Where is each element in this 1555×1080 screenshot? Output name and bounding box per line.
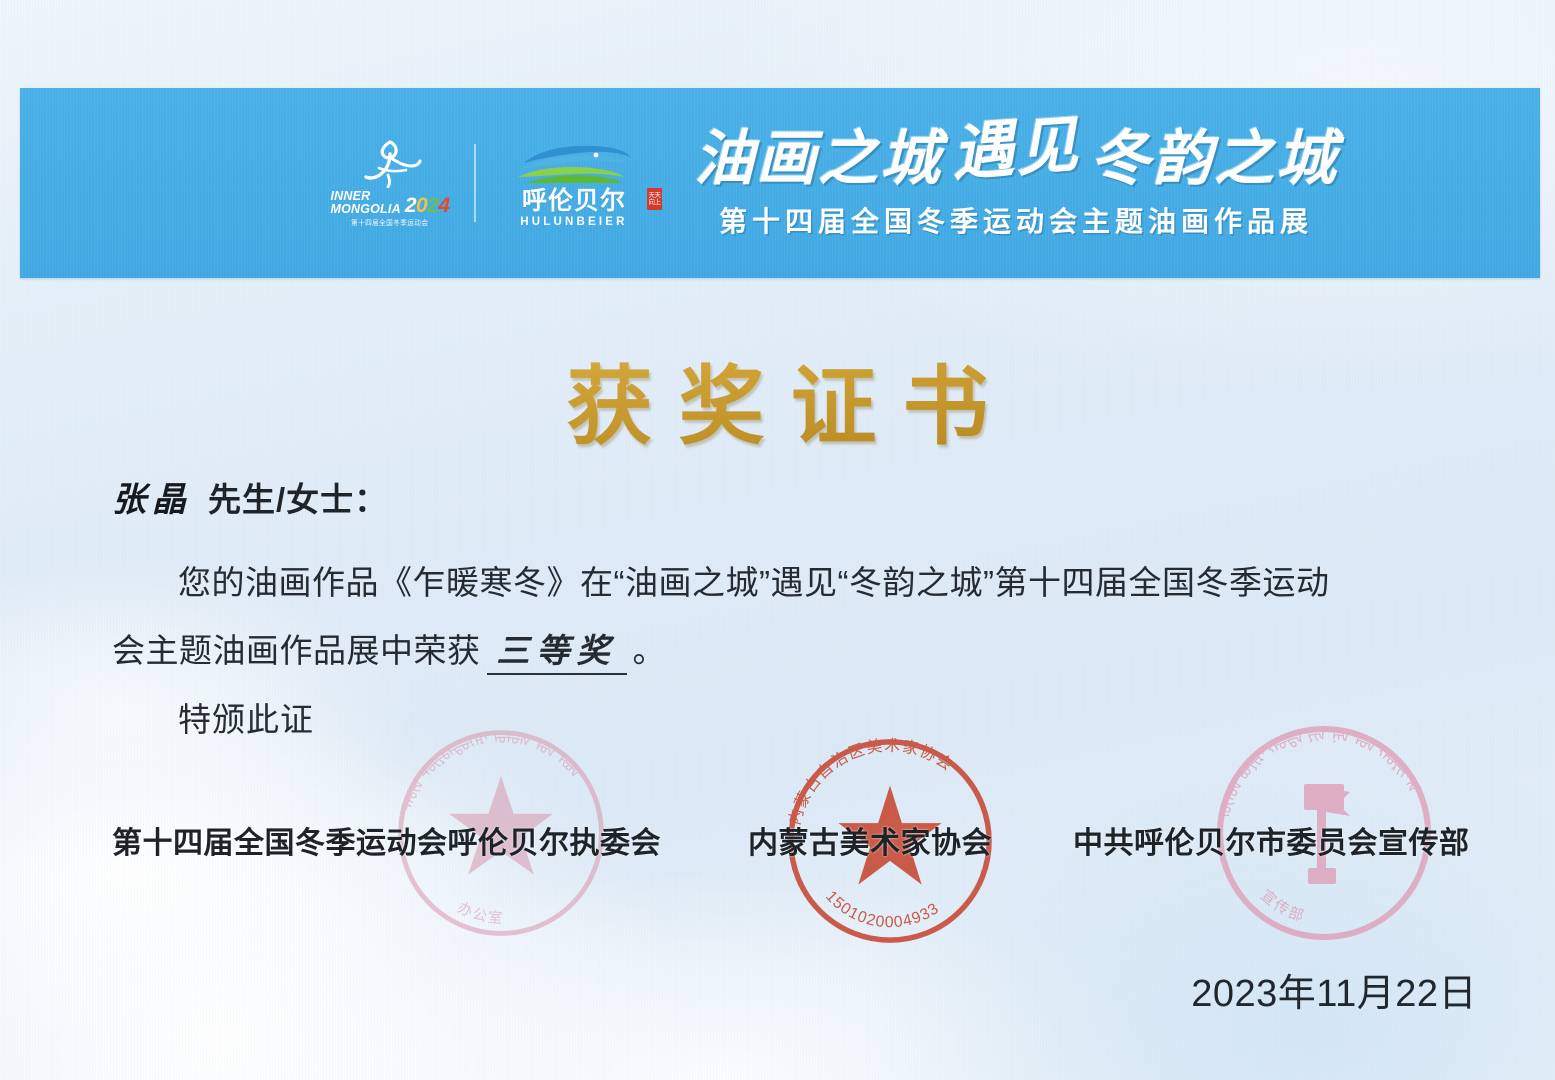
mongolian-script-mark-icon xyxy=(357,138,423,188)
background-haze-bottom-left xyxy=(0,710,500,1040)
banner-logo-group: INNER MONGOLIA 2024 第十四届全国冬季运动会 xyxy=(338,138,638,228)
issuer-name-0: 第十四届全国冬季运动会呼伦贝尔执委会 xyxy=(112,818,661,862)
banner-title-block: 油画之城 遇见 冬韵之城 第十四届全国冬季运动会主题油画作品展 xyxy=(694,126,1338,240)
certificate-body: 张晶 先生/女士： 您的油画作品《乍暖寒冬》在“油画之城”遇见“冬韵之城”第十四… xyxy=(112,478,1472,754)
inner-mongolia-sublabel: 第十四届全国冬季运动会 xyxy=(351,218,428,228)
certificate-page: INNER MONGOLIA 2024 第十四届全国冬季运动会 xyxy=(0,0,1555,1080)
inner-mongolia-line2: MONGOLIA xyxy=(330,203,400,216)
inner-mongolia-logo: INNER MONGOLIA 2024 第十四届全国冬季运动会 xyxy=(338,138,442,228)
background-haze-bottom-right xyxy=(855,740,1555,1080)
salutation-suffix: 先生/女士： xyxy=(208,478,388,522)
issuer-name-1: 内蒙古美术家协会 xyxy=(748,818,992,862)
event-banner: INNER MONGOLIA 2024 第十四届全国冬季运动会 xyxy=(20,88,1540,278)
recipient-name: 张晶 xyxy=(112,479,192,523)
award-level: 三等奖 xyxy=(487,634,627,675)
banner-subtitle: 第十四届全国冬季运动会主题油画作品展 xyxy=(719,200,1313,240)
closing-line: 特颁此证 xyxy=(112,686,1472,754)
banner-headline-middle: 遇见 xyxy=(950,113,1082,188)
issuer-row: 第十四届全国冬季运动会呼伦贝尔执委会 内蒙古美术家协会 中共呼伦贝尔市委员会宣传… xyxy=(0,818,1555,862)
banner-headline-right: 冬韵之城 xyxy=(1090,126,1338,192)
hulunbeier-english: HULUNBEIER xyxy=(520,216,627,228)
svg-text:办公室: 办公室 xyxy=(455,899,505,927)
page-title: 获奖证书 xyxy=(0,336,1555,461)
inner-mongolia-line1: INNER xyxy=(330,190,400,203)
salutation-line: 张晶 先生/女士： xyxy=(112,478,1472,523)
inner-mongolia-year: 2024 xyxy=(405,196,450,215)
body-paragraph-line-2-prefix: 会主题油画作品展中荣获 xyxy=(112,632,481,669)
body-paragraph-line-1: 您的油画作品《乍暖寒冬》在“油画之城”遇见“冬韵之城”第十四届全国冬季运动 xyxy=(112,549,1472,617)
body-paragraph-line-2-suffix: 。 xyxy=(633,632,667,669)
svg-text:宣传部: 宣传部 xyxy=(1257,887,1308,926)
grassland-landscape-icon xyxy=(510,139,638,187)
svg-text:1501020004933: 1501020004933 xyxy=(822,888,942,931)
hulunbeier-seal-mark: 天天向上 xyxy=(647,188,662,210)
issue-date: 2023年11月22日 xyxy=(1191,962,1477,1017)
banner-headline: 油画之城 遇见 冬韵之城 xyxy=(694,126,1338,192)
inner-mongolia-wordmark: INNER MONGOLIA 2024 xyxy=(330,190,449,215)
hulunbeier-chinese: 呼伦贝尔 xyxy=(522,188,626,214)
hulunbeier-logo: 呼伦贝尔 HULUNBEIER 天天向上 xyxy=(510,139,638,228)
banner-headline-left: 油画之城 xyxy=(694,126,942,192)
body-paragraph-line-2: 会主题油画作品展中荣获三等奖。 xyxy=(112,617,1472,686)
issuer-name-2: 中共呼伦贝尔市委员会宣传部 xyxy=(1073,818,1470,862)
logo-divider xyxy=(474,144,476,222)
